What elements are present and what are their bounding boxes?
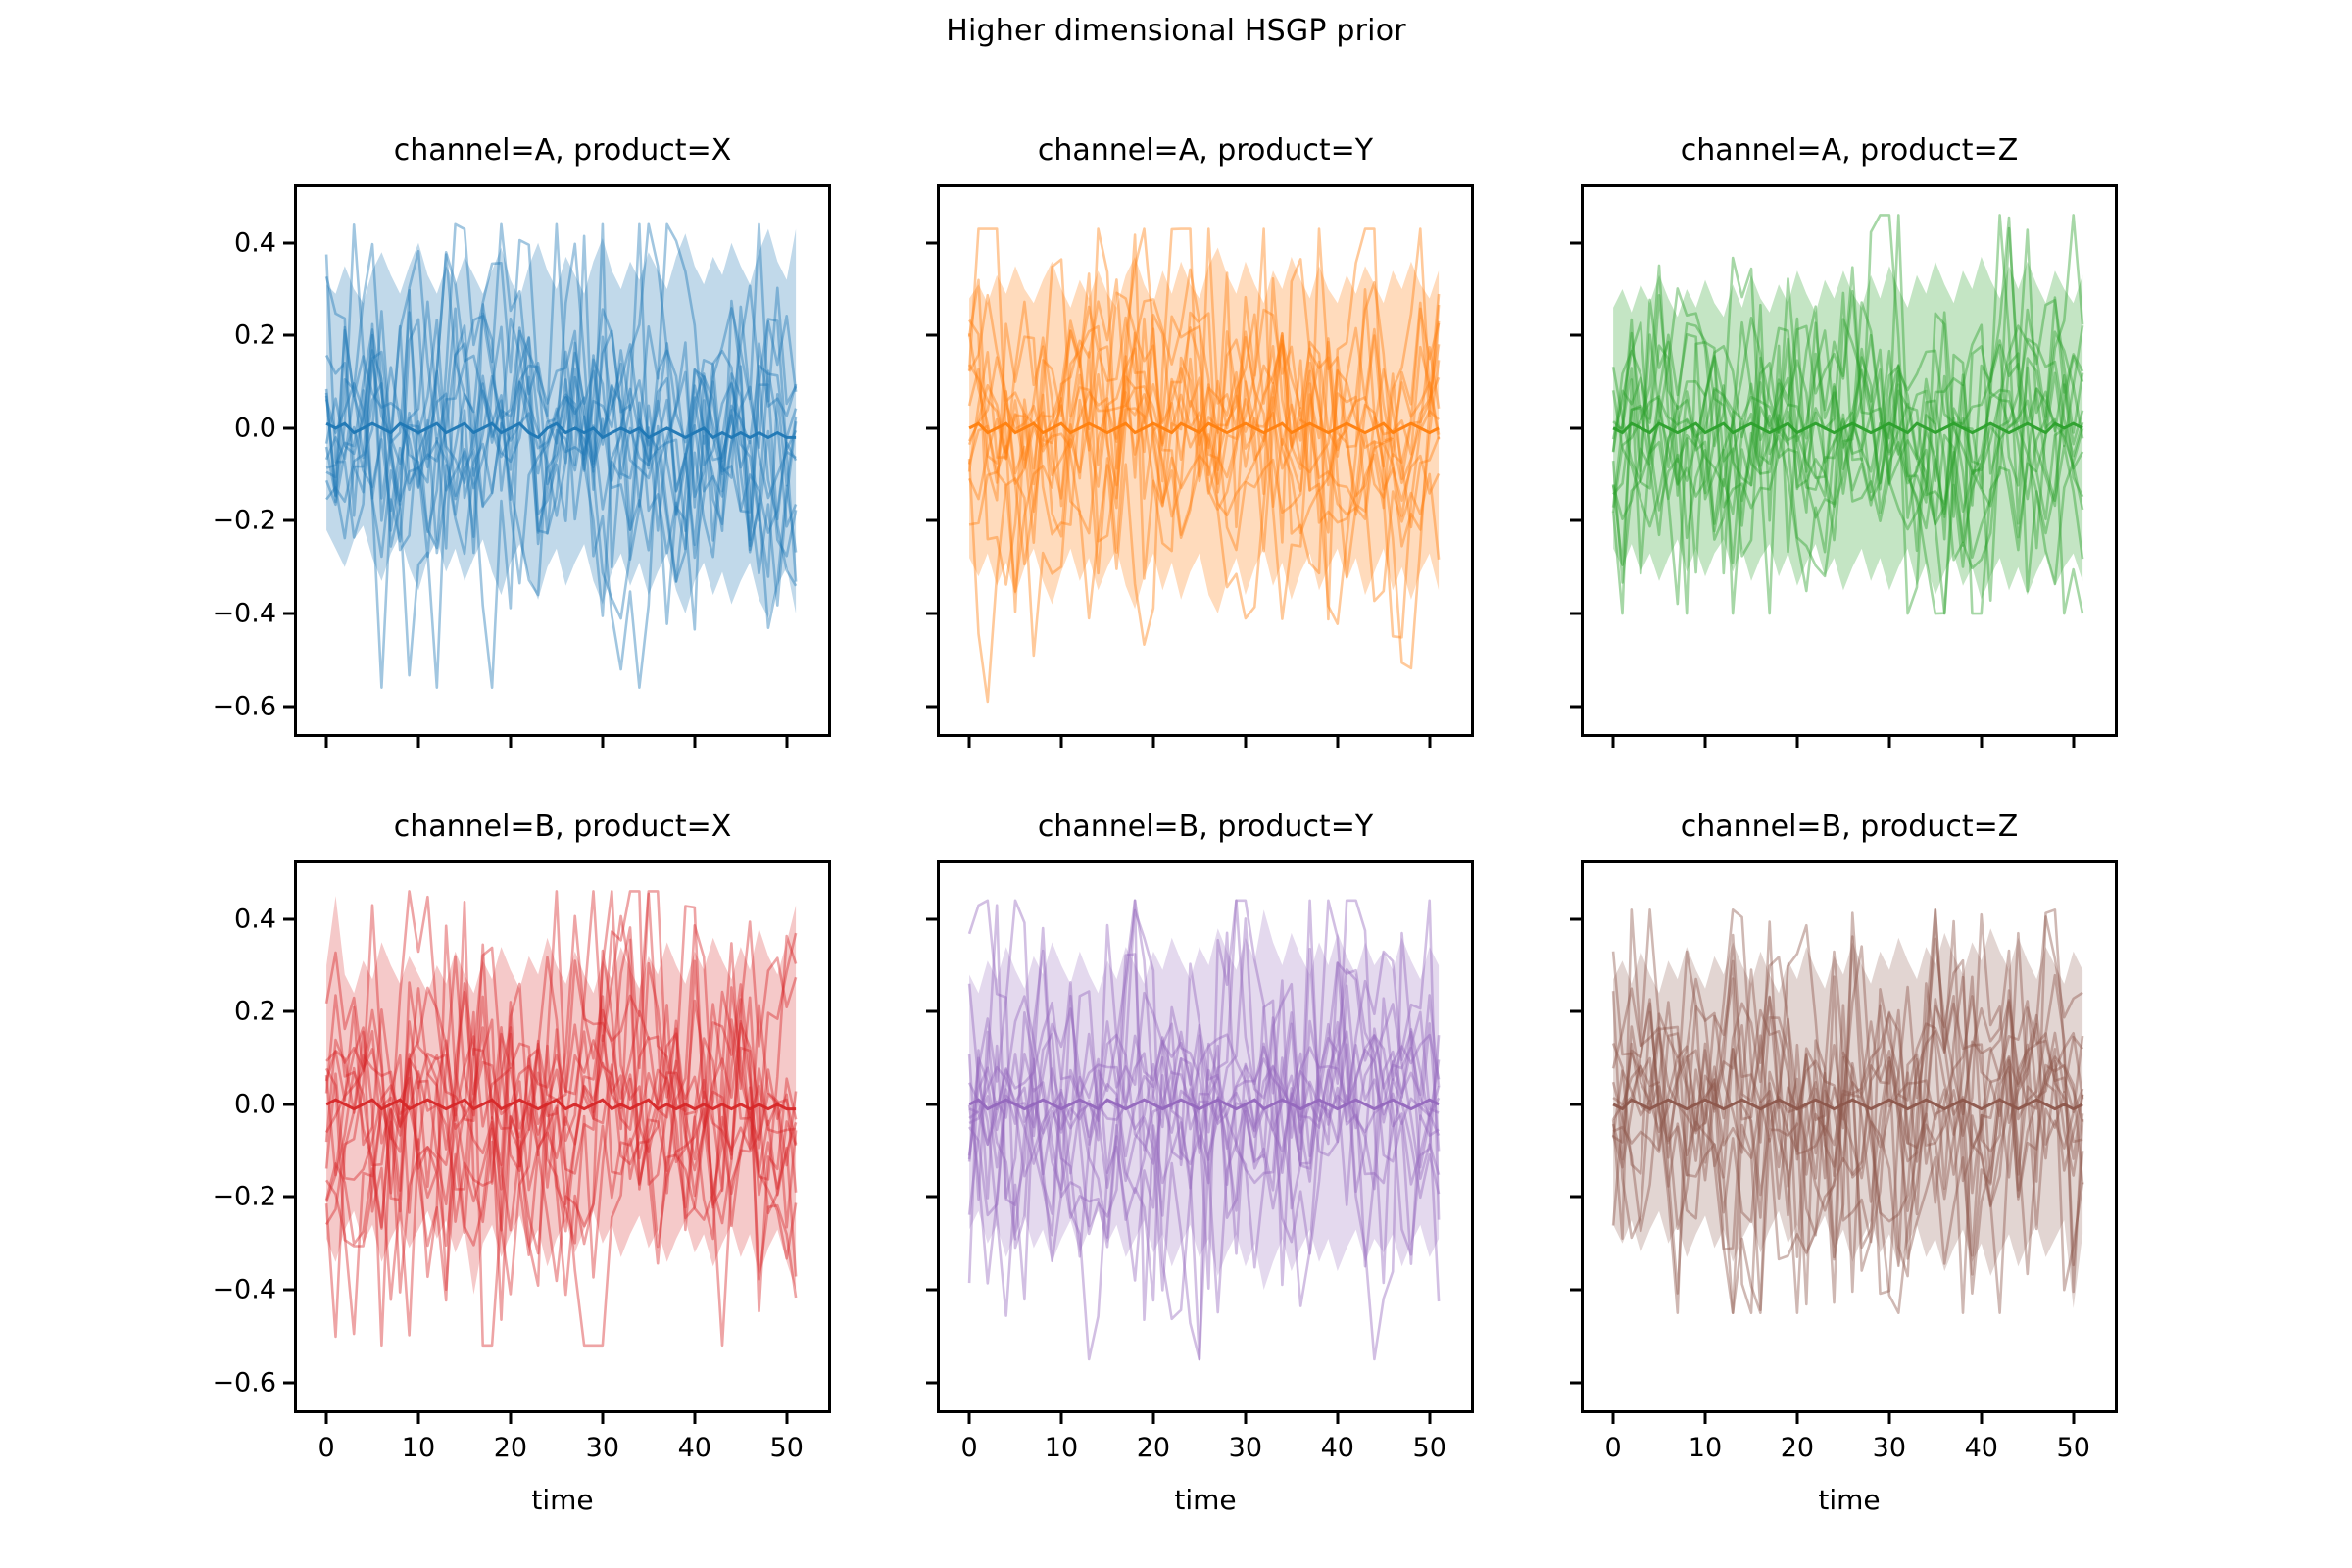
x-tick-mark [785,737,788,748]
plot-area [294,184,831,737]
x-tick-label: 0 [318,1433,334,1463]
x-tick-mark [968,1413,971,1424]
x-tick-mark [325,1413,328,1424]
x-tick-label: 0 [1604,1433,1621,1463]
plot-area [294,860,831,1413]
x-tick-mark [1059,737,1062,748]
y-tick-mark [283,241,294,244]
y-tick-mark [926,426,937,429]
x-tick-label: 30 [586,1433,619,1463]
y-tick-mark [926,519,937,522]
y-tick-mark [1570,334,1581,337]
y-tick-label: 0.4 [234,227,276,258]
y-tick-label: 0.0 [234,413,276,443]
y-tick-mark [926,1196,937,1199]
y-tick-mark [283,1196,294,1199]
y-tick-mark [283,917,294,920]
y-tick-label: −0.2 [212,506,276,536]
x-tick-mark [1887,1413,1890,1424]
y-tick-label: 0.4 [234,904,276,934]
plot-area [937,184,1474,737]
x-tick-mark [1151,1413,1154,1424]
y-tick-label: −0.6 [212,691,276,721]
y-tick-mark [283,705,294,708]
subplot-a-y: channel=A, product=Y [937,184,1474,737]
x-tick-label: 10 [402,1433,435,1463]
x-tick-mark [693,737,696,748]
x-tick-label: 50 [1413,1433,1446,1463]
y-tick-label: −0.4 [212,1275,276,1305]
x-tick-mark [693,1413,696,1424]
x-tick-mark [1887,737,1890,748]
plot-area [1581,184,2118,737]
x-tick-mark [1795,737,1798,748]
y-tick-mark [1570,1196,1581,1199]
y-tick-mark [283,612,294,615]
x-tick-mark [509,737,512,748]
y-tick-mark [1570,1010,1581,1013]
x-tick-label: 20 [494,1433,527,1463]
y-tick-mark [1570,1289,1581,1292]
y-tick-mark [926,334,937,337]
x-tick-label: 20 [1781,1433,1814,1463]
x-tick-label: 30 [1229,1433,1262,1463]
y-tick-mark [1570,612,1581,615]
y-tick-mark [926,1010,937,1013]
x-tick-mark [1428,1413,1431,1424]
subplot-a-z: channel=A, product=Z [1581,184,2118,737]
x-tick-mark [416,1413,419,1424]
x-tick-mark [1336,737,1339,748]
x-axis-label: time [1581,1484,2118,1516]
x-tick-mark [785,1413,788,1424]
x-tick-mark [1151,737,1154,748]
subplot-title: channel=B, product=X [294,809,831,844]
y-tick-mark [283,519,294,522]
y-tick-mark [283,1381,294,1384]
x-tick-label: 50 [2057,1433,2090,1463]
x-tick-mark [1059,1413,1062,1424]
x-tick-label: 30 [1873,1433,1906,1463]
x-tick-label: 50 [770,1433,804,1463]
y-tick-mark [926,917,937,920]
y-tick-mark [926,1381,937,1384]
y-tick-label: 0.2 [234,997,276,1027]
x-tick-mark [1428,737,1431,748]
x-tick-mark [601,1413,604,1424]
plot-area [937,860,1474,1413]
subplot-a-x: channel=A, product=X0.40.20.0−0.2−0.4−0.… [294,184,831,737]
x-tick-label: 10 [1045,1433,1078,1463]
subplot-b-z: channel=B, product=Z01020304050time [1581,860,2118,1413]
y-tick-label: 0.0 [234,1089,276,1119]
x-tick-mark [1703,1413,1706,1424]
y-tick-mark [926,705,937,708]
y-tick-mark [283,1010,294,1013]
x-tick-mark [968,737,971,748]
x-tick-mark [1612,1413,1615,1424]
y-tick-mark [283,1289,294,1292]
x-tick-label: 0 [960,1433,977,1463]
y-tick-label: 0.2 [234,320,276,351]
y-tick-mark [1570,1381,1581,1384]
x-tick-mark [601,737,604,748]
x-tick-mark [1795,1413,1798,1424]
x-tick-label: 40 [678,1433,711,1463]
subplot-title: channel=B, product=Y [937,809,1474,844]
subplot-b-y: channel=B, product=Y01020304050time [937,860,1474,1413]
y-tick-label: −0.4 [212,599,276,629]
y-tick-mark [1570,519,1581,522]
x-tick-mark [509,1413,512,1424]
subplot-b-x: channel=B, product=X0.40.20.0−0.2−0.4−0.… [294,860,831,1413]
x-tick-label: 20 [1137,1433,1170,1463]
x-tick-mark [416,737,419,748]
x-tick-mark [1244,737,1247,748]
figure-suptitle: Higher dimensional HSGP prior [0,14,2352,48]
subplot-title: channel=A, product=Y [937,133,1474,168]
y-tick-mark [926,1102,937,1105]
y-tick-mark [1570,705,1581,708]
y-tick-mark [926,1289,937,1292]
subplot-title: channel=B, product=Z [1581,809,2118,844]
x-tick-mark [1244,1413,1247,1424]
y-tick-mark [283,426,294,429]
x-tick-label: 10 [1689,1433,1722,1463]
x-tick-mark [2072,737,2075,748]
subplot-title: channel=A, product=X [294,133,831,168]
x-tick-label: 40 [1321,1433,1354,1463]
y-tick-mark [1570,917,1581,920]
x-tick-mark [2072,1413,2075,1424]
y-tick-mark [926,612,937,615]
subplot-title: channel=A, product=Z [1581,133,2118,168]
x-tick-mark [1336,1413,1339,1424]
y-tick-mark [1570,1102,1581,1105]
y-tick-label: −0.6 [212,1367,276,1397]
y-tick-mark [283,1102,294,1105]
plot-area [1581,860,2118,1413]
y-tick-mark [926,241,937,244]
x-tick-mark [1980,1413,1983,1424]
x-axis-label: time [294,1484,831,1516]
x-tick-mark [1980,737,1983,748]
x-tick-label: 40 [1965,1433,1998,1463]
y-tick-mark [1570,241,1581,244]
y-tick-mark [1570,426,1581,429]
x-tick-mark [1703,737,1706,748]
y-tick-mark [283,334,294,337]
x-axis-label: time [937,1484,1474,1516]
y-tick-label: −0.2 [212,1182,276,1212]
x-tick-mark [325,737,328,748]
figure-canvas: Higher dimensional HSGP prior channel=A,… [0,0,2352,1568]
x-tick-mark [1612,737,1615,748]
